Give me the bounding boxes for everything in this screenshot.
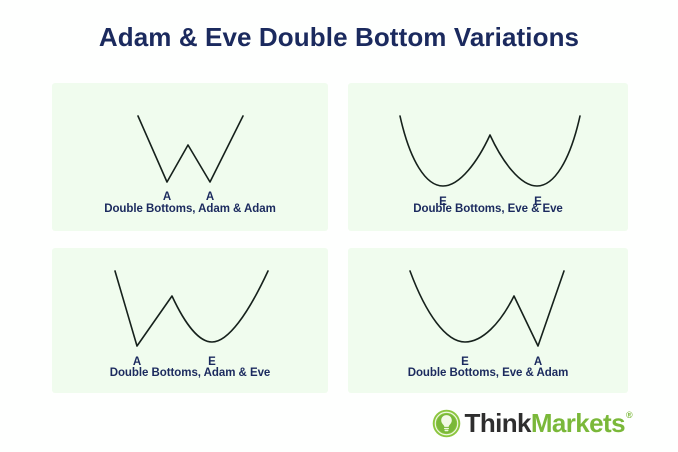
- price-line-adam-adam: [138, 116, 243, 182]
- lightbulb-circle-icon: [432, 409, 461, 438]
- logo-text-think: Think: [465, 410, 531, 436]
- panel-caption-eve-adam: Double Bottoms, Eve & Adam: [348, 367, 628, 379]
- price-line-eve-eve: [400, 116, 580, 186]
- panel-eve-eve[interactable]: E E Double Bottoms, Eve & Eve: [348, 83, 628, 231]
- panel-grid: A A Double Bottoms, Adam & Adam E E Doub…: [52, 83, 628, 393]
- registered-trademark-icon: ®: [626, 411, 632, 420]
- logo-text-markets: Markets: [531, 410, 625, 436]
- panel-eve-adam[interactable]: E A Double Bottoms, Eve & Adam: [348, 248, 628, 393]
- price-line-adam-eve: [115, 271, 268, 346]
- logo-wordmark: Think Markets ®: [465, 410, 632, 436]
- infographic-root: Adam & Eve Double Bottom Variations A A …: [0, 0, 678, 452]
- bottom-label-left: A: [163, 191, 171, 203]
- panel-caption-eve-eve: Double Bottoms, Eve & Eve: [348, 203, 628, 215]
- price-line-eve-adam: [410, 271, 564, 346]
- brand-logo[interactable]: Think Markets ®: [432, 406, 632, 440]
- panel-adam-adam[interactable]: A A Double Bottoms, Adam & Adam: [52, 83, 328, 231]
- panel-caption-adam-adam: Double Bottoms, Adam & Adam: [52, 203, 328, 215]
- page-title: Adam & Eve Double Bottom Variations: [0, 22, 678, 53]
- panel-adam-eve[interactable]: A E Double Bottoms, Adam & Eve: [52, 248, 328, 393]
- bottom-label-right: A: [206, 191, 214, 203]
- panel-caption-adam-eve: Double Bottoms, Adam & Eve: [52, 367, 328, 379]
